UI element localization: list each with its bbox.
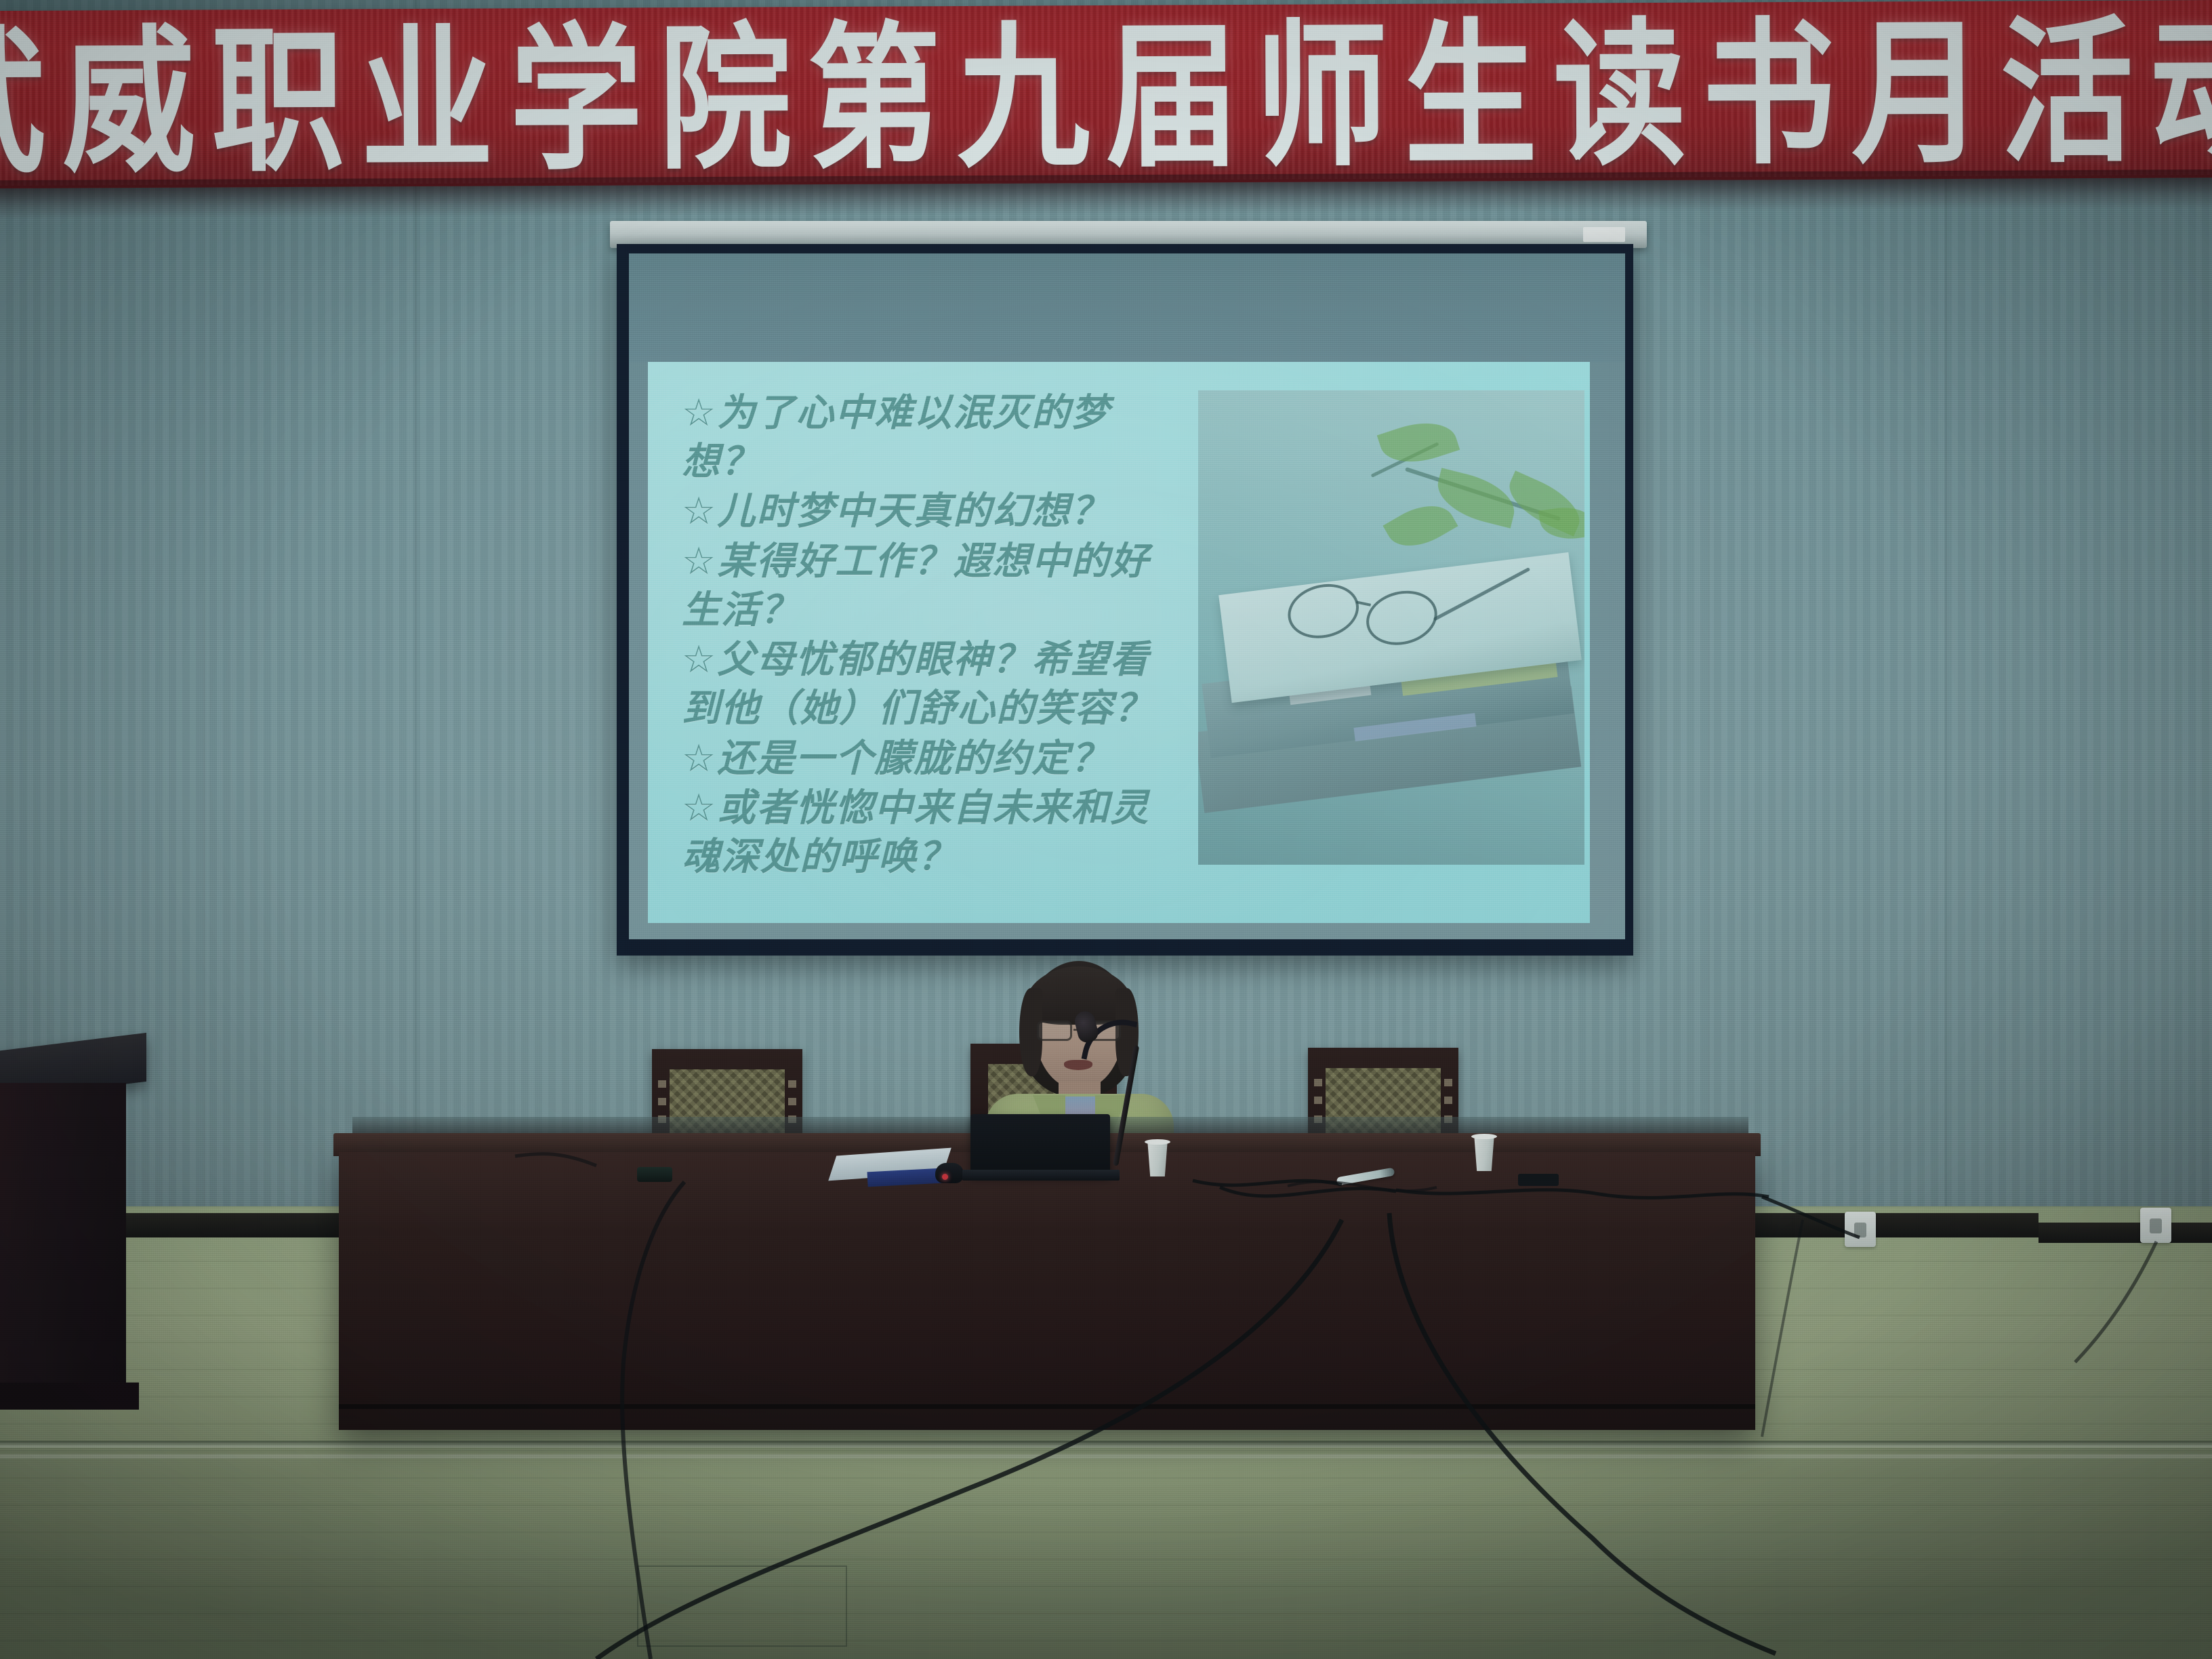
slide-line: ☆父母忧郁的眼神？希望看到他（她）们舒心的笑容？ [682, 636, 1156, 733]
laptop-base [962, 1170, 1120, 1181]
screen-unprojected-band [629, 253, 1625, 362]
slide-line: ☆还是一个朦胧的约定？ [682, 735, 1156, 783]
slide-photo-books-glasses [1198, 390, 1584, 865]
floor-access-panel [637, 1565, 847, 1647]
mouth [1064, 1060, 1092, 1070]
outlet-socket-icon [2150, 1218, 2162, 1233]
banner-title: 武威职业学院第九届师生读书月活动 [0, 14, 2212, 182]
power-adapter [1518, 1174, 1559, 1186]
wall-outlet[interactable] [2140, 1208, 2171, 1243]
mouse-led-icon [942, 1174, 948, 1180]
laptop[interactable] [970, 1114, 1110, 1175]
projection-screen-surface: ☆为了心中难以泯灭的梦想？ ☆儿时梦中天真的幻想？ ☆某得好工作？遐想中的好生活… [629, 253, 1625, 939]
desk-device [637, 1167, 672, 1182]
slide-line: ☆或者恍惚中来自未来和灵魂深处的呼唤？ [682, 784, 1156, 881]
slide-text-block: ☆为了心中难以泯灭的梦想？ ☆儿时梦中天真的幻想？ ☆某得好工作？遐想中的好生活… [682, 389, 1156, 883]
conference-hall-scene: 武威职业学院第九届师生读书月活动 ☆为了心中难以泯灭的梦想？ ☆儿时梦中天真的幻… [0, 0, 2212, 1659]
baseboard [1754, 1213, 2039, 1237]
wall-outlet[interactable] [1845, 1212, 1876, 1247]
housing-brand-label [1583, 227, 1625, 242]
lectern-podium [0, 1083, 126, 1401]
presentation-slide: ☆为了心中难以泯灭的梦想？ ☆儿时梦中天真的幻想？ ☆某得好工作？遐想中的好生活… [648, 362, 1590, 923]
baseboard [2039, 1223, 2212, 1243]
stage-front-edge [0, 1441, 2212, 1448]
computer-mouse[interactable] [935, 1163, 964, 1183]
projection-screen-frame: ☆为了心中难以泯灭的梦想？ ☆儿时梦中天真的幻想？ ☆某得好工作？遐想中的好生活… [617, 244, 1633, 956]
table-base-line [339, 1404, 1755, 1409]
paper-cup-rim [1145, 1139, 1170, 1145]
slide-line: ☆为了心中难以泯灭的梦想？ [682, 389, 1156, 486]
head-table [339, 1152, 1755, 1430]
slide-line: ☆某得好工作？遐想中的好生活？ [682, 537, 1156, 634]
outlet-socket-icon [1854, 1223, 1866, 1237]
slide-line: ☆儿时梦中天真的幻想？ [682, 487, 1156, 536]
event-banner: 武威职业学院第九届师生读书月活动 [0, 0, 2212, 188]
stage-front-edge-highlight [0, 1454, 2212, 1458]
lectern-base [0, 1382, 139, 1410]
paper-cup-rim [1471, 1134, 1497, 1139]
